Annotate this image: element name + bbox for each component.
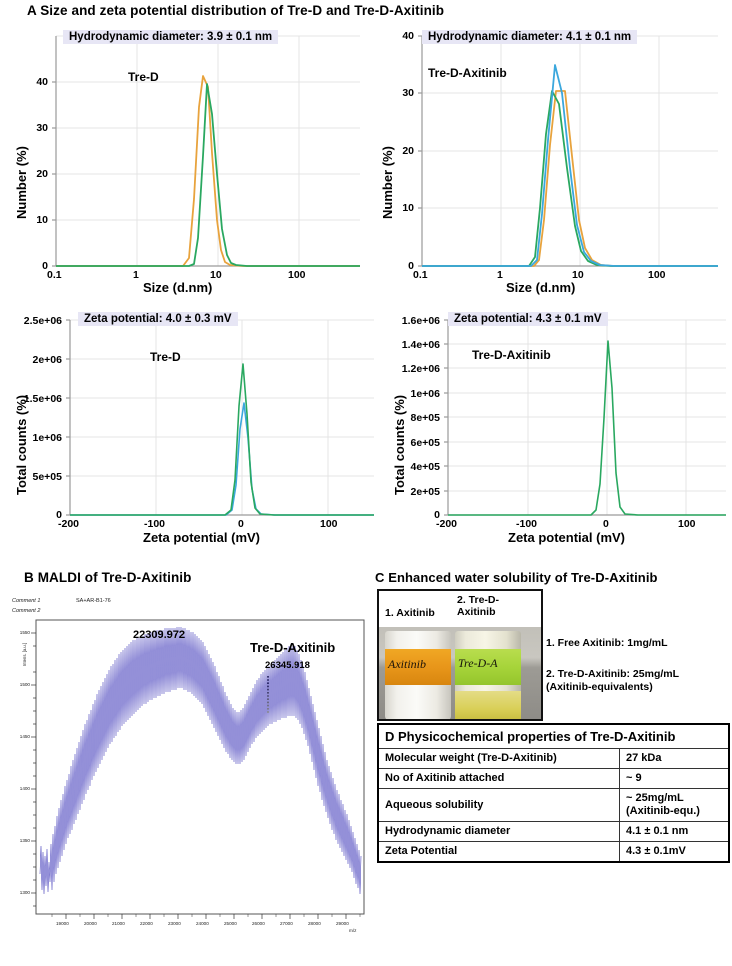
size-axitinib-ytick-0: 0 — [388, 260, 414, 272]
size-tre-d-caption: Hydrodynamic diameter: 3.9 ± 0.1 nm — [63, 30, 278, 44]
maldi-ytick-1500: 1500 — [8, 682, 30, 687]
size-axitinib-ytick-30: 30 — [388, 87, 414, 99]
series-run-orange — [422, 91, 718, 266]
maldi-xtick-27000: 27000 — [280, 921, 293, 926]
size-tre-d-ytick-0: 0 — [22, 260, 48, 272]
zeta-tre-d-xaxis-title: Zeta potential (mV) — [143, 530, 260, 545]
size-tre-d-ytick-40: 40 — [22, 76, 48, 88]
zeta-axitinib-xtick-3: 100 — [678, 518, 696, 530]
vial-2-caption: 2. Tre-D-Axitinib — [457, 595, 517, 618]
zeta-axitinib-ytick-1: 2e+05 — [382, 486, 440, 498]
zeta-axitinib-ytick-6: 1.2e+06 — [382, 363, 440, 375]
zeta-axitinib-ytick-2: 4e+05 — [382, 461, 440, 473]
maldi-sample-id: SA+AR-B1-76 — [76, 598, 111, 604]
maldi-yaxis-title: Intens. [a.u.] — [22, 643, 27, 666]
maldi-peak-label-26345: 26345.918 — [265, 660, 310, 671]
zeta-axitinib-xaxis-title: Zeta potential (mV) — [508, 530, 625, 545]
size-axitinib-xtick-3: 100 — [648, 269, 666, 281]
row-label-molecular-weight: Molecular weight (Tre-D-Axitinib) — [378, 749, 620, 769]
series-run-green — [56, 84, 360, 266]
table-row: No of Axitinib attached ~ 9 — [378, 769, 729, 789]
size-tre-d-ytick-30: 30 — [22, 122, 48, 134]
size-tre-d-yaxis-title: Number (%) — [14, 146, 29, 219]
solubility-note-2-sub: (Axitinib-equivalents) — [546, 681, 653, 694]
size-tre-d-sample-label: Tre-D — [128, 70, 159, 84]
zeta-tre-d-ytick-4: 2e+06 — [12, 354, 62, 366]
row-value-hydrodynamic-diameter: 4.1 ± 0.1 nm — [620, 822, 730, 842]
zeta-axitinib-caption: Zeta potential: 4.3 ± 0.1 mV — [448, 312, 608, 326]
size-axitinib-xtick-1: 1 — [497, 269, 503, 281]
zeta-axitinib-ytick-3: 6e+05 — [382, 437, 440, 449]
size-axitinib-caption: Hydrodynamic diameter: 4.1 ± 0.1 nm — [422, 30, 637, 44]
size-tre-d-svg — [0, 24, 366, 292]
vial-2: Tre-D-A — [455, 631, 521, 721]
size-axitinib-xaxis-title: Size (d.nm) — [506, 280, 575, 295]
maldi-xaxis-title: m/z — [349, 928, 356, 933]
maldi-comment-2: Comment 2 — [12, 608, 40, 614]
maldi-ytick-1300: 1300 — [8, 890, 30, 895]
maldi-xtick-20000: 20000 — [84, 921, 97, 926]
zeta-tre-d-xtick-2: 0 — [238, 518, 244, 530]
maldi-comment-1: Comment 1 — [12, 598, 40, 604]
zeta-tre-d-xtick-0: -200 — [58, 518, 79, 530]
zeta-axitinib-sample-label: Tre-D-Axitinib — [472, 348, 551, 362]
zeta-axitinib-xtick-2: 0 — [603, 518, 609, 530]
maldi-xtick-25000: 25000 — [224, 921, 237, 926]
size-axitinib-yaxis-title: Number (%) — [380, 146, 395, 219]
maldi-ytick-1550: 1550 — [8, 630, 30, 635]
row-value-zeta-potential: 4.3 ± 0.1mV — [620, 842, 730, 863]
zeta-axitinib-ytick-0: 0 — [382, 509, 440, 521]
vial-1-handwritten-label: Axitinib — [388, 657, 448, 672]
table-header-row: D Physicochemical properties of Tre-D-Ax… — [378, 724, 729, 749]
zeta-axitinib-yaxis-title: Total counts (%) — [392, 395, 407, 495]
series-run-green — [448, 341, 726, 515]
size-tre-d-xtick-1: 1 — [133, 269, 139, 281]
table-row: Hydrodynamic diameter 4.1 ± 0.1 nm — [378, 822, 729, 842]
size-axitinib-xtick-0: 0.1 — [413, 269, 428, 281]
zeta-axitinib-ytick-4: 8e+05 — [382, 412, 440, 424]
zeta-tre-d-xtick-3: 100 — [320, 518, 338, 530]
zeta-axitinib-ytick-7: 1.4e+06 — [382, 339, 440, 351]
size-tre-d-xtick-0: 0.1 — [47, 269, 62, 281]
chart-zeta-tre-d-axitinib: Zeta potential: 4.3 ± 0.1 mV Tre-D-Axiti… — [380, 310, 732, 560]
maldi-xtick-22000: 22000 — [140, 921, 153, 926]
maldi-ytick-1450: 1450 — [8, 734, 30, 739]
vial-1-caption: 1. Axitinib — [385, 607, 435, 619]
zeta-tre-d-caption: Zeta potential: 4.0 ± 0.3 mV — [78, 312, 238, 326]
zeta-axitinib-xtick-1: -100 — [516, 518, 537, 530]
zeta-tre-d-ytick-5: 2.5e+06 — [12, 315, 62, 327]
maldi-xtick-26000: 26000 — [252, 921, 265, 926]
vial-2-handwritten-label: Tre-D-A — [458, 656, 520, 671]
row-label-zeta-potential: Zeta Potential — [378, 842, 620, 863]
maldi-peak-label-22309: 22309.972 — [133, 629, 185, 641]
size-axitinib-ytick-40: 40 — [388, 30, 414, 42]
zeta-tre-d-ytick-0: 0 — [12, 509, 62, 521]
series-run-orange — [56, 76, 360, 266]
chart-zeta-tre-d: Zeta potential: 4.0 ± 0.3 mV Tre-D 2.5e+… — [0, 310, 380, 560]
zeta-tre-d-xtick-1: -100 — [144, 518, 165, 530]
maldi-xtick-23000: 23000 — [168, 921, 181, 926]
solubility-note-2: 2. Tre-D-Axitinib: 25mg/mL — [546, 668, 679, 681]
maldi-xtick-28000: 28000 — [308, 921, 321, 926]
maldi-compound-label: Tre-D-Axitinib — [250, 640, 335, 655]
chart-maldi: Comment 1 Comment 2 SA+AR-B1-76 — [0, 594, 372, 966]
zeta-axitinib-ytick-5: 1e+06 — [382, 388, 440, 400]
zeta-tre-d-sample-label: Tre-D — [150, 350, 181, 364]
series-run-blue — [422, 65, 718, 266]
maldi-xtick-19000: 19000 — [56, 921, 69, 926]
panel-a-title: A Size and zeta potential distribution o… — [27, 3, 444, 18]
table-row: Zeta Potential 4.3 ± 0.1mV — [378, 842, 729, 863]
chart-size-tre-d-axitinib: Hydrodynamic diameter: 4.1 ± 0.1 nm Tre-… — [366, 24, 732, 292]
table-row: Aqueous solubility ~ 25mg/mL (Axitinib-e… — [378, 789, 729, 822]
solubility-note-1: 1. Free Axitinib: 1mg/mL — [546, 637, 668, 650]
vial-1: Axitinib — [385, 631, 451, 721]
maldi-xtick-21000: 21000 — [112, 921, 125, 926]
maldi-ytick-1400: 1400 — [8, 786, 30, 791]
row-value-molecular-weight: 27 kDa — [620, 749, 730, 769]
row-label-aqueous-solubility: Aqueous solubility — [378, 789, 620, 822]
panel-c-title: C Enhanced water solubility of Tre-D-Axi… — [375, 570, 658, 585]
row-value-axitinib-attached: ~ 9 — [620, 769, 730, 789]
maldi-xtick-29000: 29000 — [336, 921, 349, 926]
row-label-axitinib-attached: No of Axitinib attached — [378, 769, 620, 789]
size-axitinib-svg — [366, 24, 732, 292]
solubility-photo: 1. Axitinib 2. Tre-D-Axitinib Axitinib T… — [377, 589, 543, 721]
zeta-tre-d-yaxis-title: Total counts (%) — [14, 395, 29, 495]
panel-b-title: B MALDI of Tre-D-Axitinib — [24, 570, 192, 585]
panel-d-title: D Physicochemical properties of Tre-D-Ax… — [378, 724, 729, 749]
row-label-hydrodynamic-diameter: Hydrodynamic diameter — [378, 822, 620, 842]
physicochemical-properties-table: D Physicochemical properties of Tre-D-Ax… — [377, 723, 730, 863]
row-value-aqueous-solubility: ~ 25mg/mL (Axitinib-equ.) — [620, 789, 730, 822]
zeta-axitinib-ytick-8: 1.6e+06 — [382, 315, 440, 327]
maldi-xtick-24000: 24000 — [196, 921, 209, 926]
size-tre-d-xtick-3: 100 — [288, 269, 306, 281]
table-row: Molecular weight (Tre-D-Axitinib) 27 kDa — [378, 749, 729, 769]
size-axitinib-sample-label: Tre-D-Axitinib — [428, 66, 507, 80]
size-tre-d-xaxis-title: Size (d.nm) — [143, 280, 212, 295]
zeta-axitinib-xtick-0: -200 — [436, 518, 457, 530]
chart-size-tre-d: Hydrodynamic diameter: 3.9 ± 0.1 nm Tre-… — [0, 24, 366, 292]
series-run-green — [422, 91, 718, 266]
maldi-ytick-1350: 1350 — [8, 838, 30, 843]
